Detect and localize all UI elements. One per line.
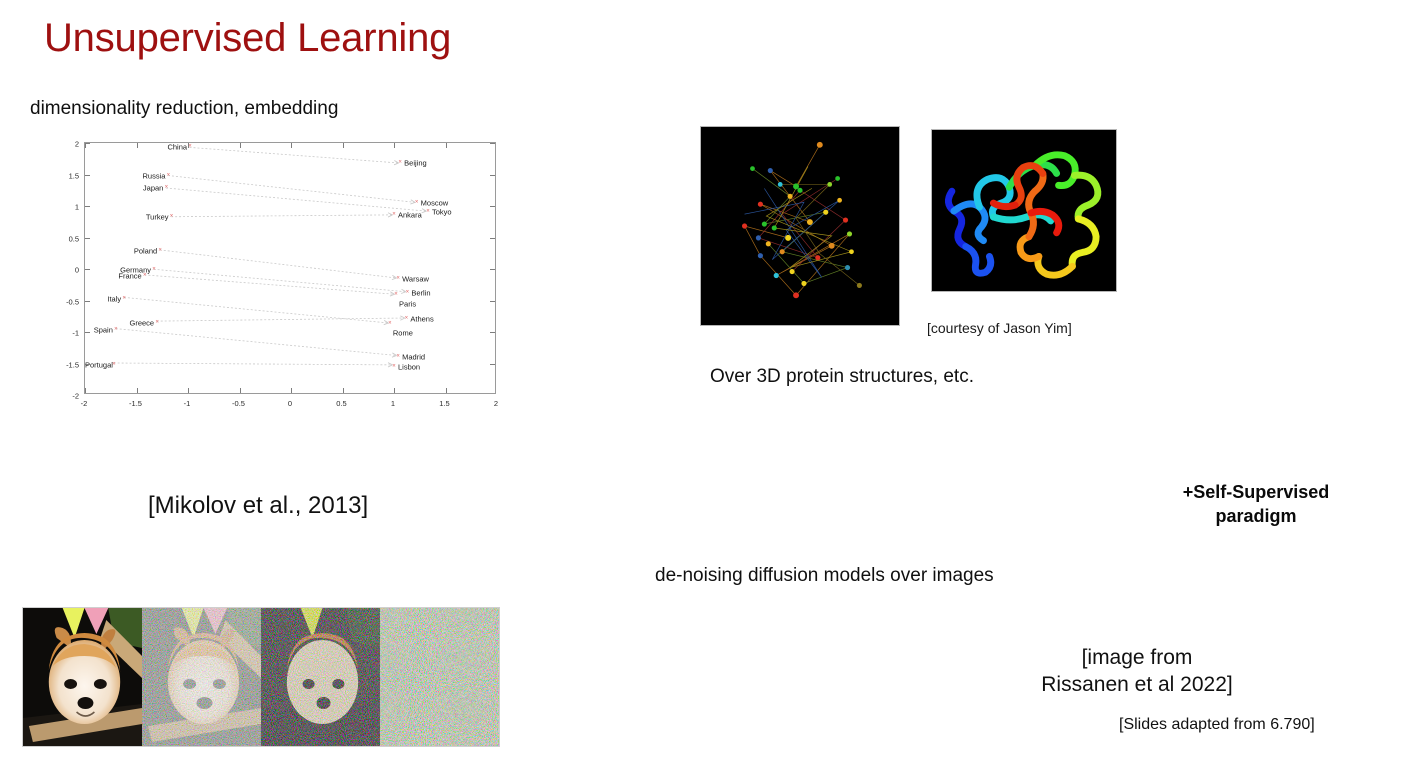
scatter-point-label: Lisbon	[398, 362, 420, 371]
scatter-point-marker	[122, 296, 127, 301]
page-title: Unsupervised Learning	[44, 16, 451, 61]
x-tick-label: 0	[288, 399, 292, 408]
scatter-point-label: Athens	[410, 315, 433, 324]
diffusion-frame-heavy-noise	[261, 608, 380, 746]
scatter-point-label: Moscow	[421, 198, 449, 207]
y-tick-mark-right	[490, 206, 495, 207]
x-tick-mark-bottom	[240, 388, 241, 393]
scatter-point-marker	[398, 161, 403, 166]
scatter-point-label: Tokyo	[432, 207, 452, 216]
diffusion-frame-pure-noise	[380, 608, 499, 746]
x-tick-mark	[85, 143, 86, 148]
y-tick-label: -1	[72, 329, 79, 338]
x-tick-mark-bottom	[394, 388, 395, 393]
y-tick-mark	[85, 206, 90, 207]
scatter-point-label: Russia	[85, 171, 165, 180]
self-supervised-line-1: +Self-Supervised	[1136, 480, 1376, 504]
y-tick-label: -1.5	[66, 360, 79, 369]
scatter-point-label: Ankara	[398, 211, 422, 220]
slides-credit: [Slides adapted from 6.790]	[1119, 716, 1315, 734]
dimensionality-reduction-subtitle: dimensionality reduction, embedding	[30, 98, 338, 120]
diffusion-frame-clean	[23, 608, 142, 746]
x-tick-mark-bottom	[188, 388, 189, 393]
scatter-point-label: Spain	[85, 326, 113, 335]
x-tick-label: -1.5	[129, 399, 142, 408]
scatter-point-label: France	[85, 271, 142, 280]
scatter-point-label: Madrid	[402, 353, 425, 362]
x-tick-mark	[446, 143, 447, 148]
scatter-point-marker	[158, 248, 163, 253]
scatter-point-marker	[396, 355, 401, 360]
scatter-point-marker	[394, 293, 399, 298]
x-tick-label: -0.5	[232, 399, 245, 408]
scatter-point-marker	[169, 215, 174, 220]
x-tick-mark-bottom	[137, 388, 138, 393]
y-tick-label: 1	[75, 203, 79, 212]
scatter-point-label: Italy	[85, 294, 121, 303]
scatter-point-marker	[387, 322, 392, 327]
scatter-point-label: Turkey	[85, 213, 169, 222]
y-tick-mark-right	[490, 143, 495, 144]
y-tick-mark	[85, 364, 90, 365]
y-tick-mark-right	[490, 332, 495, 333]
scatter-point-marker	[113, 328, 118, 333]
y-tick-mark-right	[490, 364, 495, 365]
x-tick-label: 0.5	[336, 399, 346, 408]
diffusion-image-strip	[22, 607, 500, 747]
y-tick-mark-right	[490, 301, 495, 302]
y-tick-label: 1.5	[69, 171, 79, 180]
scatter-point-label: Beijing	[404, 159, 427, 168]
x-tick-mark	[343, 143, 344, 148]
y-tick-mark-right	[490, 238, 495, 239]
y-tick-label: 0.5	[69, 234, 79, 243]
scatter-point-label: Rome	[393, 329, 413, 338]
scatter-point-marker	[405, 290, 410, 295]
protein-point-cloud-graph-icon	[700, 126, 900, 326]
x-tick-label: 1	[391, 399, 395, 408]
scatter-point-marker	[392, 213, 397, 218]
scatter-point-label: Paris	[399, 300, 416, 309]
x-tick-mark	[240, 143, 241, 148]
protein-ribbon-structure-icon	[931, 129, 1117, 292]
rissanen-credit: [image from Rissanen et al 2022]	[1012, 644, 1262, 699]
scatter-point-label: Japan	[85, 184, 163, 193]
x-tick-label: -1	[184, 399, 191, 408]
y-tick-label: 0	[75, 266, 79, 275]
protein-structures-caption: Over 3D protein structures, etc.	[710, 366, 974, 388]
scatter-point-marker	[396, 277, 401, 282]
scatter-plot-area: ChinaBeijingRussiaJapanMoscowTurkeyAnkar…	[84, 142, 496, 394]
y-tick-mark	[85, 238, 90, 239]
scatter-point-label: Warsaw	[402, 275, 429, 284]
diffusion-caption: de-noising diffusion models over images	[655, 565, 994, 587]
x-tick-mark-bottom	[343, 388, 344, 393]
x-tick-mark	[137, 143, 138, 148]
scatter-point-marker	[414, 200, 419, 205]
rissanen-credit-line-1: [image from	[1012, 644, 1262, 671]
scatter-point-marker	[142, 273, 147, 278]
scatter-point-marker	[404, 317, 409, 322]
y-tick-mark-right	[490, 175, 495, 176]
scatter-point-label: Portugal	[85, 360, 111, 369]
x-tick-mark-bottom	[85, 388, 86, 393]
x-tick-label: 2	[494, 399, 498, 408]
x-tick-label: -2	[81, 399, 88, 408]
x-tick-label: 1.5	[439, 399, 449, 408]
embedding-scatter-figure: ChinaBeijingRussiaJapanMoscowTurkeyAnkar…	[60, 140, 522, 418]
scatter-point-marker	[164, 186, 169, 191]
scatter-point-marker	[155, 320, 160, 325]
protein-credit-caption: [courtesy of Jason Yim]	[927, 320, 1072, 336]
scatter-point-marker	[166, 173, 171, 178]
self-supervised-note: +Self-Supervised paradigm	[1136, 480, 1376, 529]
y-tick-label: -2	[72, 392, 79, 401]
y-tick-mark	[85, 175, 90, 176]
x-tick-mark-bottom	[291, 388, 292, 393]
y-tick-label: -0.5	[66, 297, 79, 306]
scatter-point-marker	[152, 268, 157, 273]
y-tick-mark-right	[490, 269, 495, 270]
y-tick-mark	[85, 269, 90, 270]
self-supervised-line-2: paradigm	[1136, 504, 1376, 528]
mikolov-citation: [Mikolov et al., 2013]	[148, 492, 368, 520]
x-tick-mark	[291, 143, 292, 148]
rissanen-credit-line-2: Rissanen et al 2022]	[1012, 671, 1262, 698]
scatter-point-marker	[425, 209, 430, 214]
scatter-point-label: Berlin	[411, 288, 430, 297]
scatter-point-marker	[392, 364, 397, 369]
y-tick-mark	[85, 301, 90, 302]
scatter-point-label: Poland	[85, 246, 157, 255]
x-tick-mark-bottom	[446, 388, 447, 393]
x-tick-mark	[188, 143, 189, 148]
y-tick-mark	[85, 332, 90, 333]
y-tick-label: 2	[75, 140, 79, 149]
x-tick-mark	[394, 143, 395, 148]
diffusion-frame-slight-noise	[142, 608, 261, 746]
